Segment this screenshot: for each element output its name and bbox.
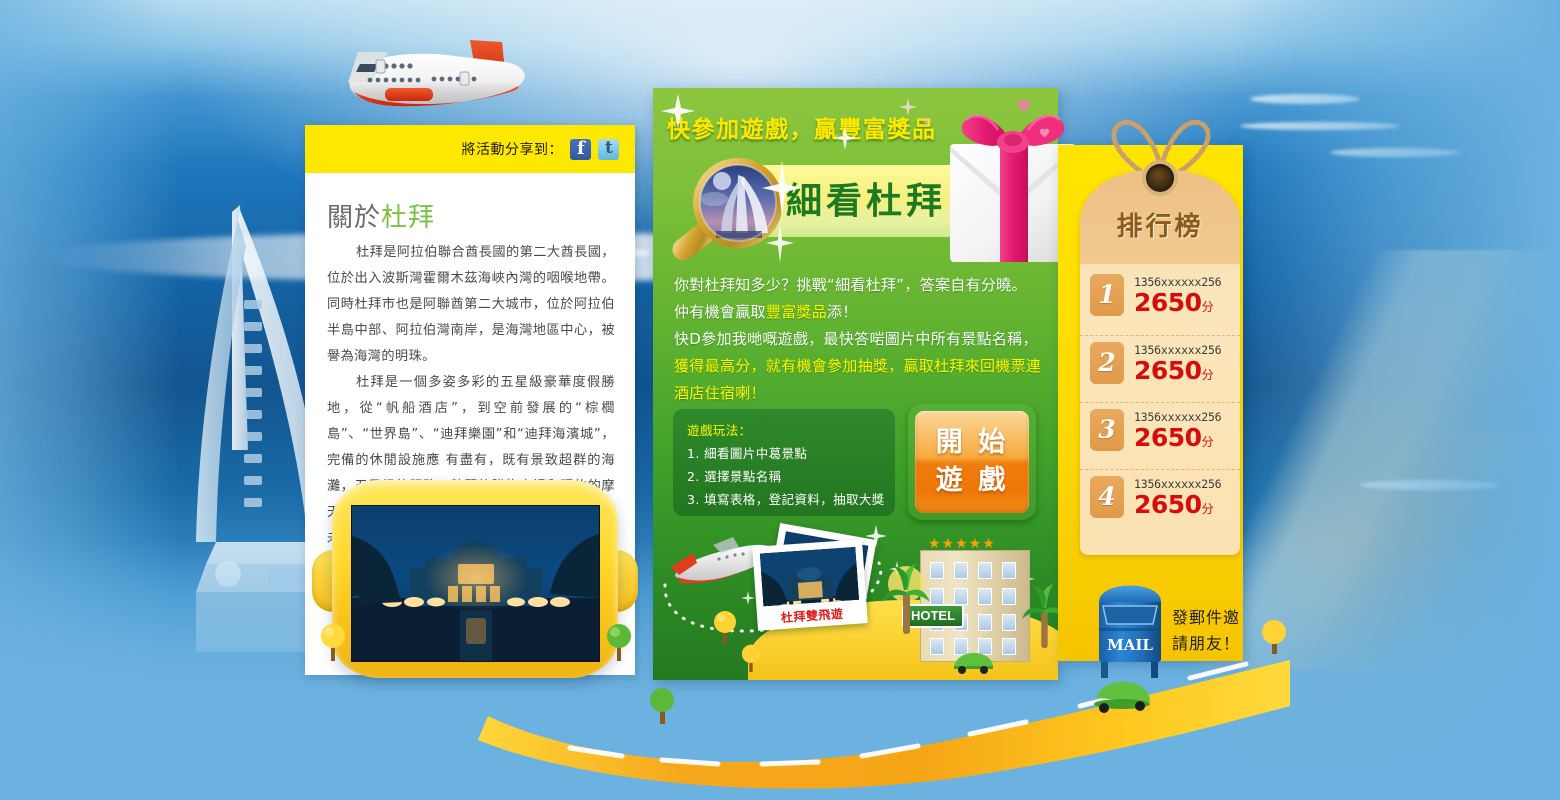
start-game-button-inner[interactable]: 開 始 遊 戲 — [915, 411, 1029, 513]
promo-description-segment: 添！ — [827, 303, 858, 321]
leaderboard-score-value: 2650 — [1134, 423, 1202, 452]
twitter-icon[interactable] — [598, 139, 619, 160]
tag-hole-icon — [1146, 164, 1174, 192]
facebook-icon[interactable] — [570, 139, 591, 160]
leaderboard-score-unit: 分 — [1202, 300, 1214, 314]
rules-list: 1. 細看圖片中葛景點 2. 選擇景點名稱 3. 填寫表格，登記資料，抽取大獎 — [687, 442, 895, 511]
share-label: 將活動分享到： — [462, 139, 564, 159]
leaderboard-rank: 2 — [1090, 342, 1124, 384]
page-title: 關於杜拜 — [327, 197, 635, 234]
promo-description-line: 快D參加我哋嘅遊戲，最快答啱圖片中所有景點名稱， — [674, 326, 1050, 353]
leaderboard-score-unit: 分 — [1202, 368, 1214, 382]
leaderboard-score: 2650分 — [1134, 491, 1221, 523]
leaderboard-entry: 1356xxxxxx2562650分 — [1134, 342, 1221, 389]
leaderboard-score: 2650分 — [1134, 289, 1221, 321]
leaderboard-list: 11356xxxxxx2562650分21356xxxxxx2562650分31… — [1080, 268, 1240, 536]
leaderboard-score: 2650分 — [1134, 424, 1221, 456]
leaderboard-rank: 1 — [1090, 274, 1124, 316]
leaderboard-score-unit: 分 — [1202, 435, 1214, 449]
leaderboard-tag: 排行榜 11356xxxxxx2562650分21356xxxxxx256265… — [1080, 170, 1240, 555]
leaderboard-score-unit: 分 — [1202, 502, 1214, 516]
about-title-highlight: 杜拜 — [381, 203, 435, 233]
promo-description: 你對杜拜知多少？挑戰“細看杜拜”，答案自有分曉。仲有機會贏取豐富獎品添！快D參加… — [674, 272, 1050, 407]
promo-description-segment: 豐富獎品 — [766, 303, 827, 321]
promo-description-line: 你對杜拜知多少？挑戰“細看杜拜”，答案自有分曉。 — [674, 272, 1050, 299]
leaderboard-row: 41356xxxxxx2562650分 — [1080, 469, 1240, 536]
promo-description-segment: 仲有機會贏取 — [674, 303, 766, 321]
share-bar: 將活動分享到： — [305, 125, 635, 173]
rule-item: 2. 選擇景點名稱 — [687, 465, 895, 488]
leaderboard-user-id: 1356xxxxxx256 — [1134, 275, 1221, 289]
rule-item: 1. 細看圖片中葛景點 — [687, 442, 895, 465]
promo-description-segment: 獲得最高分，就有機會參加抽獎，贏取杜拜來回機票連 — [674, 357, 1041, 375]
start-game-button[interactable]: 開 始 遊 戲 — [908, 404, 1036, 520]
leaderboard-row: 31356xxxxxx2562650分 — [1080, 402, 1240, 469]
about-paragraph-1: 杜拜是阿拉伯聯合酋長國的第二大酋長國，位於出入波斯灣霍爾木茲海峽內灣的咽喉地帶。… — [327, 240, 615, 370]
leaderboard-entry: 1356xxxxxx2562650分 — [1134, 476, 1221, 523]
game-rules-box: 遊戲玩法： 1. 細看圖片中葛景點 2. 選擇景點名稱 3. 填寫表格，登記資料… — [673, 408, 895, 516]
about-title-prefix: 關於 — [327, 203, 381, 233]
car-on-road — [1094, 682, 1150, 713]
leaderboard-score-value: 2650 — [1134, 490, 1202, 519]
leaderboard-rank: 4 — [1090, 476, 1124, 518]
leaderboard-entry: 1356xxxxxx2562650分 — [1134, 274, 1221, 321]
start-game-label-2: 遊 戲 — [936, 462, 1008, 500]
promo-description-segment: 快D參加我哋嘅遊戲，最快答啱圖片中所有景點名稱， — [674, 330, 1038, 348]
leaderboard-rank: 3 — [1090, 409, 1124, 451]
start-game-label-1: 開 始 — [936, 424, 1008, 462]
leaderboard-score-value: 2650 — [1134, 356, 1202, 385]
sea-fade-left — [0, 0, 180, 800]
promo-description-line: 獲得最高分，就有機會參加抽獎，贏取杜拜來回機票連 — [674, 353, 1050, 380]
leaderboard-score-value: 2650 — [1134, 288, 1202, 317]
photo-card-front: 杜拜雙飛遊 — [752, 539, 868, 630]
rule-item: 3. 填寫表格，登記資料，抽取大獎 — [687, 488, 895, 511]
leaderboard-row: 11356xxxxxx2562650分 — [1080, 268, 1240, 335]
leaderboard-user-id: 1356xxxxxx256 — [1134, 477, 1221, 491]
leaderboard-user-id: 1356xxxxxx256 — [1134, 410, 1221, 424]
leaderboard-score: 2650分 — [1134, 357, 1221, 389]
photo-thumb-front — [760, 547, 859, 607]
yellow-road — [270, 620, 1290, 800]
leaderboard-user-id: 1356xxxxxx256 — [1134, 343, 1221, 357]
promo-description-line: 酒店住宿喇！ — [674, 380, 1050, 407]
rules-title: 遊戲玩法： — [687, 419, 895, 442]
leaderboard-entry: 1356xxxxxx2562650分 — [1134, 409, 1221, 456]
promo-description-segment: 酒店住宿喇！ — [674, 384, 766, 402]
airplane-icon — [330, 22, 545, 127]
promo-description-line: 仲有機會贏取豐富獎品添！ — [674, 299, 1050, 326]
magnifier-icon — [668, 155, 786, 270]
leaderboard-row: 21356xxxxxx2562650分 — [1080, 335, 1240, 402]
leaderboard-title: 排行榜 — [1080, 206, 1240, 243]
promo-description-segment: 你對杜拜知多少？挑戰“細看杜拜”，答案自有分曉。 — [674, 276, 1027, 294]
